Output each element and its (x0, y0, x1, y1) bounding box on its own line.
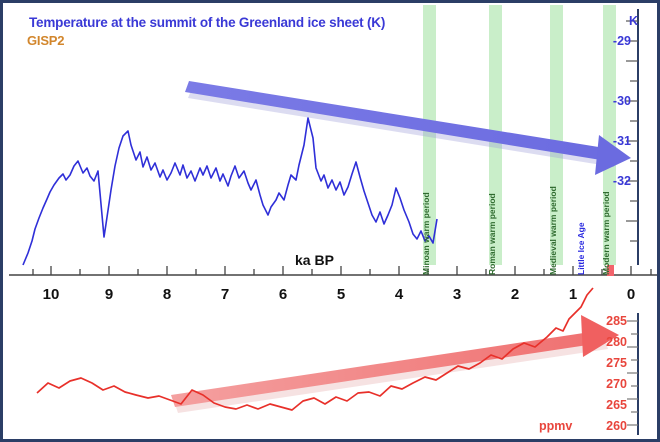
co2-tick-260: 260 (581, 419, 627, 433)
top-right-ticks (626, 21, 638, 241)
x-tick-4: 4 (384, 286, 414, 303)
period-label-minoan: Minoan warm period (421, 192, 431, 275)
period-label-little-ice-age: Little Ice Age (576, 222, 586, 275)
co2-tick-270: 270 (581, 377, 627, 391)
temp-tick-31: -31 (591, 134, 631, 148)
x-axis-ticks (33, 266, 651, 275)
co2-axis-unit: ppmv (539, 419, 572, 433)
x-tick-6: 6 (268, 286, 298, 303)
x-axis-label: ka BP (295, 252, 334, 268)
x-tick-7: 7 (210, 286, 240, 303)
x-tick-3: 3 (442, 286, 472, 303)
x-tick-9: 9 (94, 286, 124, 303)
x-tick-2: 2 (500, 286, 530, 303)
temp-tick-32: -32 (591, 174, 631, 188)
co2-tick-280: 280 (581, 335, 627, 349)
x-tick-10: 10 (36, 286, 66, 303)
x-tick-5: 5 (326, 286, 356, 303)
period-label-medieval: Medieval warm period (548, 186, 558, 275)
period-label-modern: Modern warm period (601, 191, 611, 275)
temp-axis-unit: K (598, 14, 638, 28)
x-tick-8: 8 (152, 286, 182, 303)
temp-tick-29: -29 (591, 34, 631, 48)
figure-frame: Temperature at the summit of the Greenla… (0, 0, 660, 442)
co2-tick-285: 285 (581, 314, 627, 328)
co2-tick-265: 265 (581, 398, 627, 412)
period-label-roman: Roman warm period (487, 193, 497, 275)
x-tick-1: 1 (558, 286, 588, 303)
axes-overlay (3, 3, 660, 442)
temp-tick-30: -30 (591, 94, 631, 108)
x-tick-0: 0 (616, 286, 646, 303)
bottom-right-ticks (627, 321, 638, 425)
co2-tick-275: 275 (581, 356, 627, 370)
